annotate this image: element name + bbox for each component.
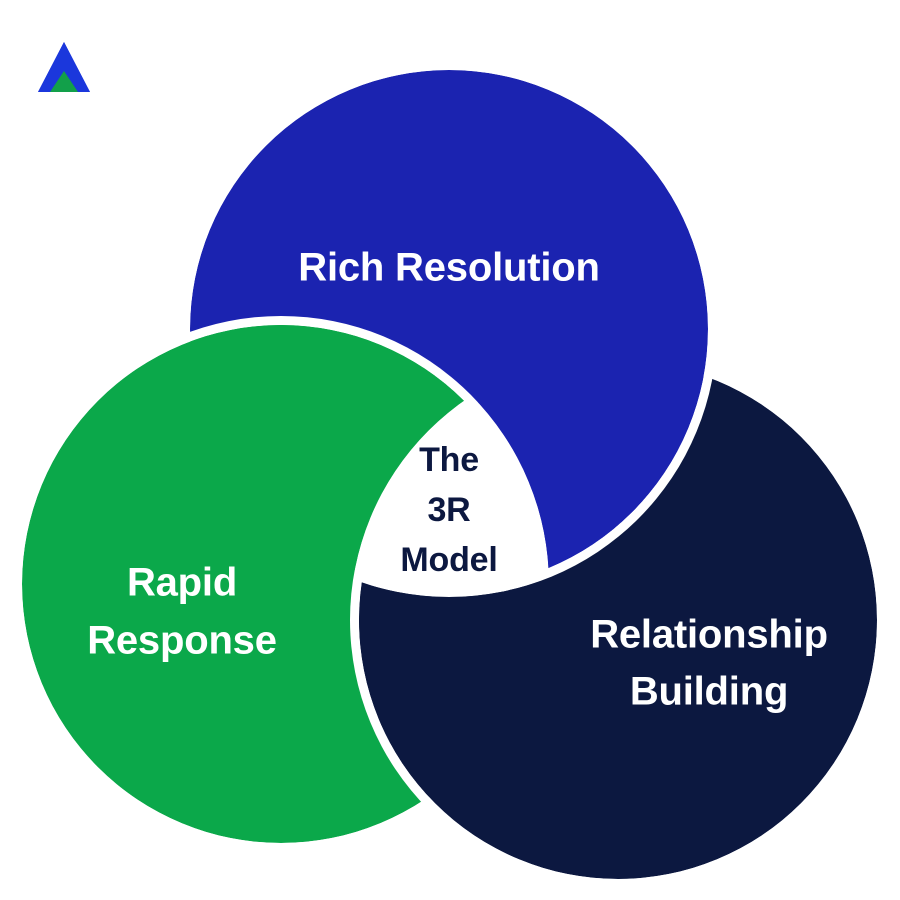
label-rich-resolution: Rich Resolution (298, 246, 599, 290)
label-rapid-response-line1: Rapid (127, 561, 237, 605)
center-label-line3: Model (400, 541, 497, 579)
diagram-canvas: Rich Resolution Rapid Response Relations… (0, 0, 900, 900)
label-rapid-response-line2: Response (87, 619, 277, 663)
center-label-line2: 3R (427, 491, 470, 529)
label-relationship-building-line1: Relationship (590, 613, 828, 657)
label-relationship-building-line2: Building (630, 670, 788, 714)
center-label-line1: The (419, 441, 479, 479)
venn-diagram: Rich Resolution Rapid Response Relations… (0, 0, 900, 900)
